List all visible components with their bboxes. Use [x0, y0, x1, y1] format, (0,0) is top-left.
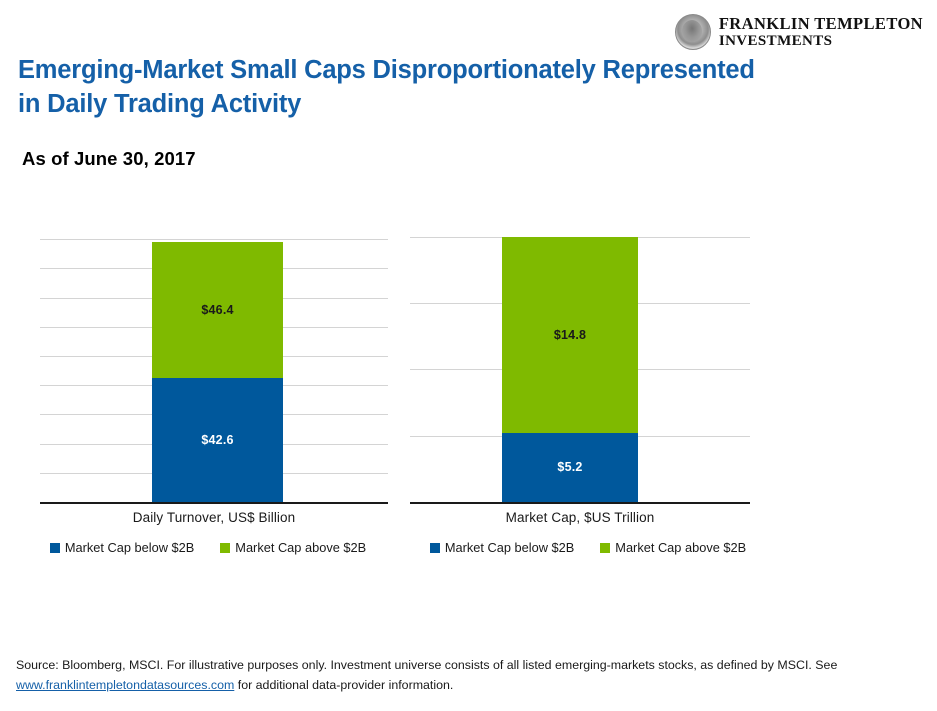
logo-wordmark: FRANKLIN TEMPLETON INVESTMENTS	[719, 15, 923, 49]
bar-segment-below-2b[interactable]: $5.2	[502, 433, 638, 502]
data-sources-link[interactable]: www.franklintempletondatasources.com	[16, 678, 234, 692]
bar-label-above-2b: $46.4	[201, 303, 233, 317]
franklin-templeton-logo: FRANKLIN TEMPLETON INVESTMENTS	[675, 14, 923, 50]
legend-label-above-2b: Market Cap above $2B	[615, 540, 746, 555]
legend-item-above-2b[interactable]: Market Cap above $2B	[600, 540, 746, 555]
x-axis-line-market-cap	[410, 502, 750, 504]
benjamin-franklin-medallion-icon	[675, 14, 711, 50]
legend-label-below-2b: Market Cap below $2B	[65, 540, 194, 555]
as-of-date-subtitle: As of June 30, 2017	[22, 148, 196, 170]
legend-swatch-blue-icon	[430, 543, 440, 553]
legend-item-below-2b[interactable]: Market Cap below $2B	[430, 540, 574, 555]
x-axis-title-daily-turnover: Daily Turnover, US$ Billion	[40, 510, 388, 525]
chart-market-cap: $14.8 $5.2 Market Cap, $US Trillion Mark…	[398, 210, 778, 560]
page-title: Emerging-Market Small Caps Disproportion…	[18, 54, 778, 121]
bar-segment-below-2b[interactable]: $42.6	[152, 378, 283, 502]
source-footnote: Source: Bloomberg, MSCI. For illustrativ…	[16, 655, 866, 696]
x-axis-line-daily-turnover	[40, 502, 388, 504]
legend-swatch-green-icon	[600, 543, 610, 553]
legend-daily-turnover: Market Cap below $2B Market Cap above $2…	[18, 540, 398, 555]
footnote-text-after: for additional data-provider information…	[234, 678, 453, 692]
legend-item-below-2b[interactable]: Market Cap below $2B	[50, 540, 194, 555]
bar-label-below-2b: $42.6	[201, 433, 233, 447]
stacked-bar-daily-turnover[interactable]: $46.4 $42.6	[152, 242, 283, 502]
logo-wordmark-line2: INVESTMENTS	[719, 33, 923, 49]
chart-daily-turnover: $46.4 $42.6 Daily Turnover, US$ Billion …	[18, 210, 398, 560]
plot-area-market-cap: $14.8 $5.2	[398, 210, 778, 502]
stacked-bar-market-cap[interactable]: $14.8 $5.2	[502, 237, 638, 502]
gridline	[40, 239, 388, 240]
legend-label-below-2b: Market Cap below $2B	[445, 540, 574, 555]
footnote-text-before: Source: Bloomberg, MSCI. For illustrativ…	[16, 658, 837, 672]
legend-swatch-blue-icon	[50, 543, 60, 553]
legend-market-cap: Market Cap below $2B Market Cap above $2…	[398, 540, 778, 555]
x-axis-title-market-cap: Market Cap, $US Trillion	[410, 510, 750, 525]
bar-label-above-2b: $14.8	[554, 328, 586, 342]
plot-area-daily-turnover: $46.4 $42.6	[18, 210, 398, 502]
logo-wordmark-line1: FRANKLIN TEMPLETON	[719, 15, 923, 33]
legend-item-above-2b[interactable]: Market Cap above $2B	[220, 540, 366, 555]
bar-label-below-2b: $5.2	[557, 460, 582, 474]
legend-swatch-green-icon	[220, 543, 230, 553]
legend-label-above-2b: Market Cap above $2B	[235, 540, 366, 555]
bar-segment-above-2b[interactable]: $46.4	[152, 242, 283, 377]
bar-segment-above-2b[interactable]: $14.8	[502, 237, 638, 433]
